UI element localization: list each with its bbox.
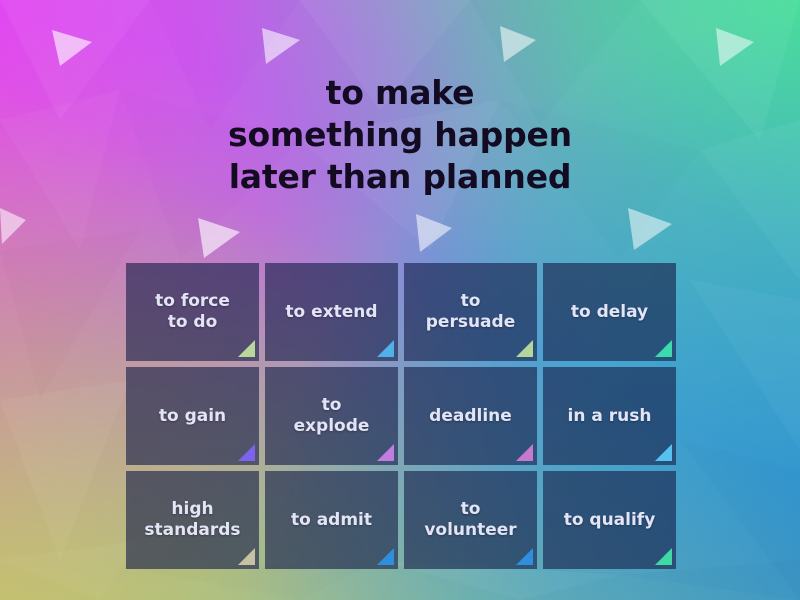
corner-triangle-icon: [655, 548, 672, 565]
corner-triangle-icon: [238, 548, 255, 565]
answer-tile[interactable]: in a rush: [543, 367, 676, 465]
answer-tile[interactable]: high standards: [126, 471, 259, 569]
corner-triangle-icon: [377, 444, 394, 461]
corner-triangle-icon: [377, 340, 394, 357]
answer-tile[interactable]: to extend: [265, 263, 398, 361]
tile-label: to extend: [279, 302, 383, 323]
corner-triangle-icon: [516, 340, 533, 357]
prompt-text: to make something happen later than plan…: [0, 72, 800, 198]
tile-label: to admit: [285, 510, 378, 531]
answer-tile[interactable]: deadline: [404, 367, 537, 465]
corner-triangle-icon: [516, 548, 533, 565]
quiz-stage: to make something happen later than plan…: [0, 0, 800, 600]
tile-label: deadline: [423, 406, 518, 427]
tile-label: in a rush: [562, 406, 658, 427]
corner-triangle-icon: [516, 444, 533, 461]
tile-label: to force to do: [149, 291, 236, 333]
answer-tile[interactable]: to delay: [543, 263, 676, 361]
answer-tile[interactable]: to persuade: [404, 263, 537, 361]
answer-tile[interactable]: to qualify: [543, 471, 676, 569]
answer-tile[interactable]: to admit: [265, 471, 398, 569]
tile-label: to persuade: [420, 291, 521, 333]
tile-label: to qualify: [558, 510, 662, 531]
answer-tile[interactable]: to gain: [126, 367, 259, 465]
tile-label: high standards: [138, 499, 246, 541]
tile-label: to delay: [565, 302, 654, 323]
corner-triangle-icon: [655, 444, 672, 461]
corner-triangle-icon: [238, 444, 255, 461]
corner-triangle-icon: [377, 548, 394, 565]
tile-label: to explode: [288, 395, 376, 437]
answer-tile-grid: to force to do to extend to persuade to …: [126, 263, 676, 569]
answer-tile[interactable]: to explode: [265, 367, 398, 465]
answer-tile[interactable]: to volunteer: [404, 471, 537, 569]
corner-triangle-icon: [655, 340, 672, 357]
tile-label: to volunteer: [418, 499, 522, 541]
tile-label: to gain: [153, 406, 232, 427]
corner-triangle-icon: [238, 340, 255, 357]
answer-tile[interactable]: to force to do: [126, 263, 259, 361]
